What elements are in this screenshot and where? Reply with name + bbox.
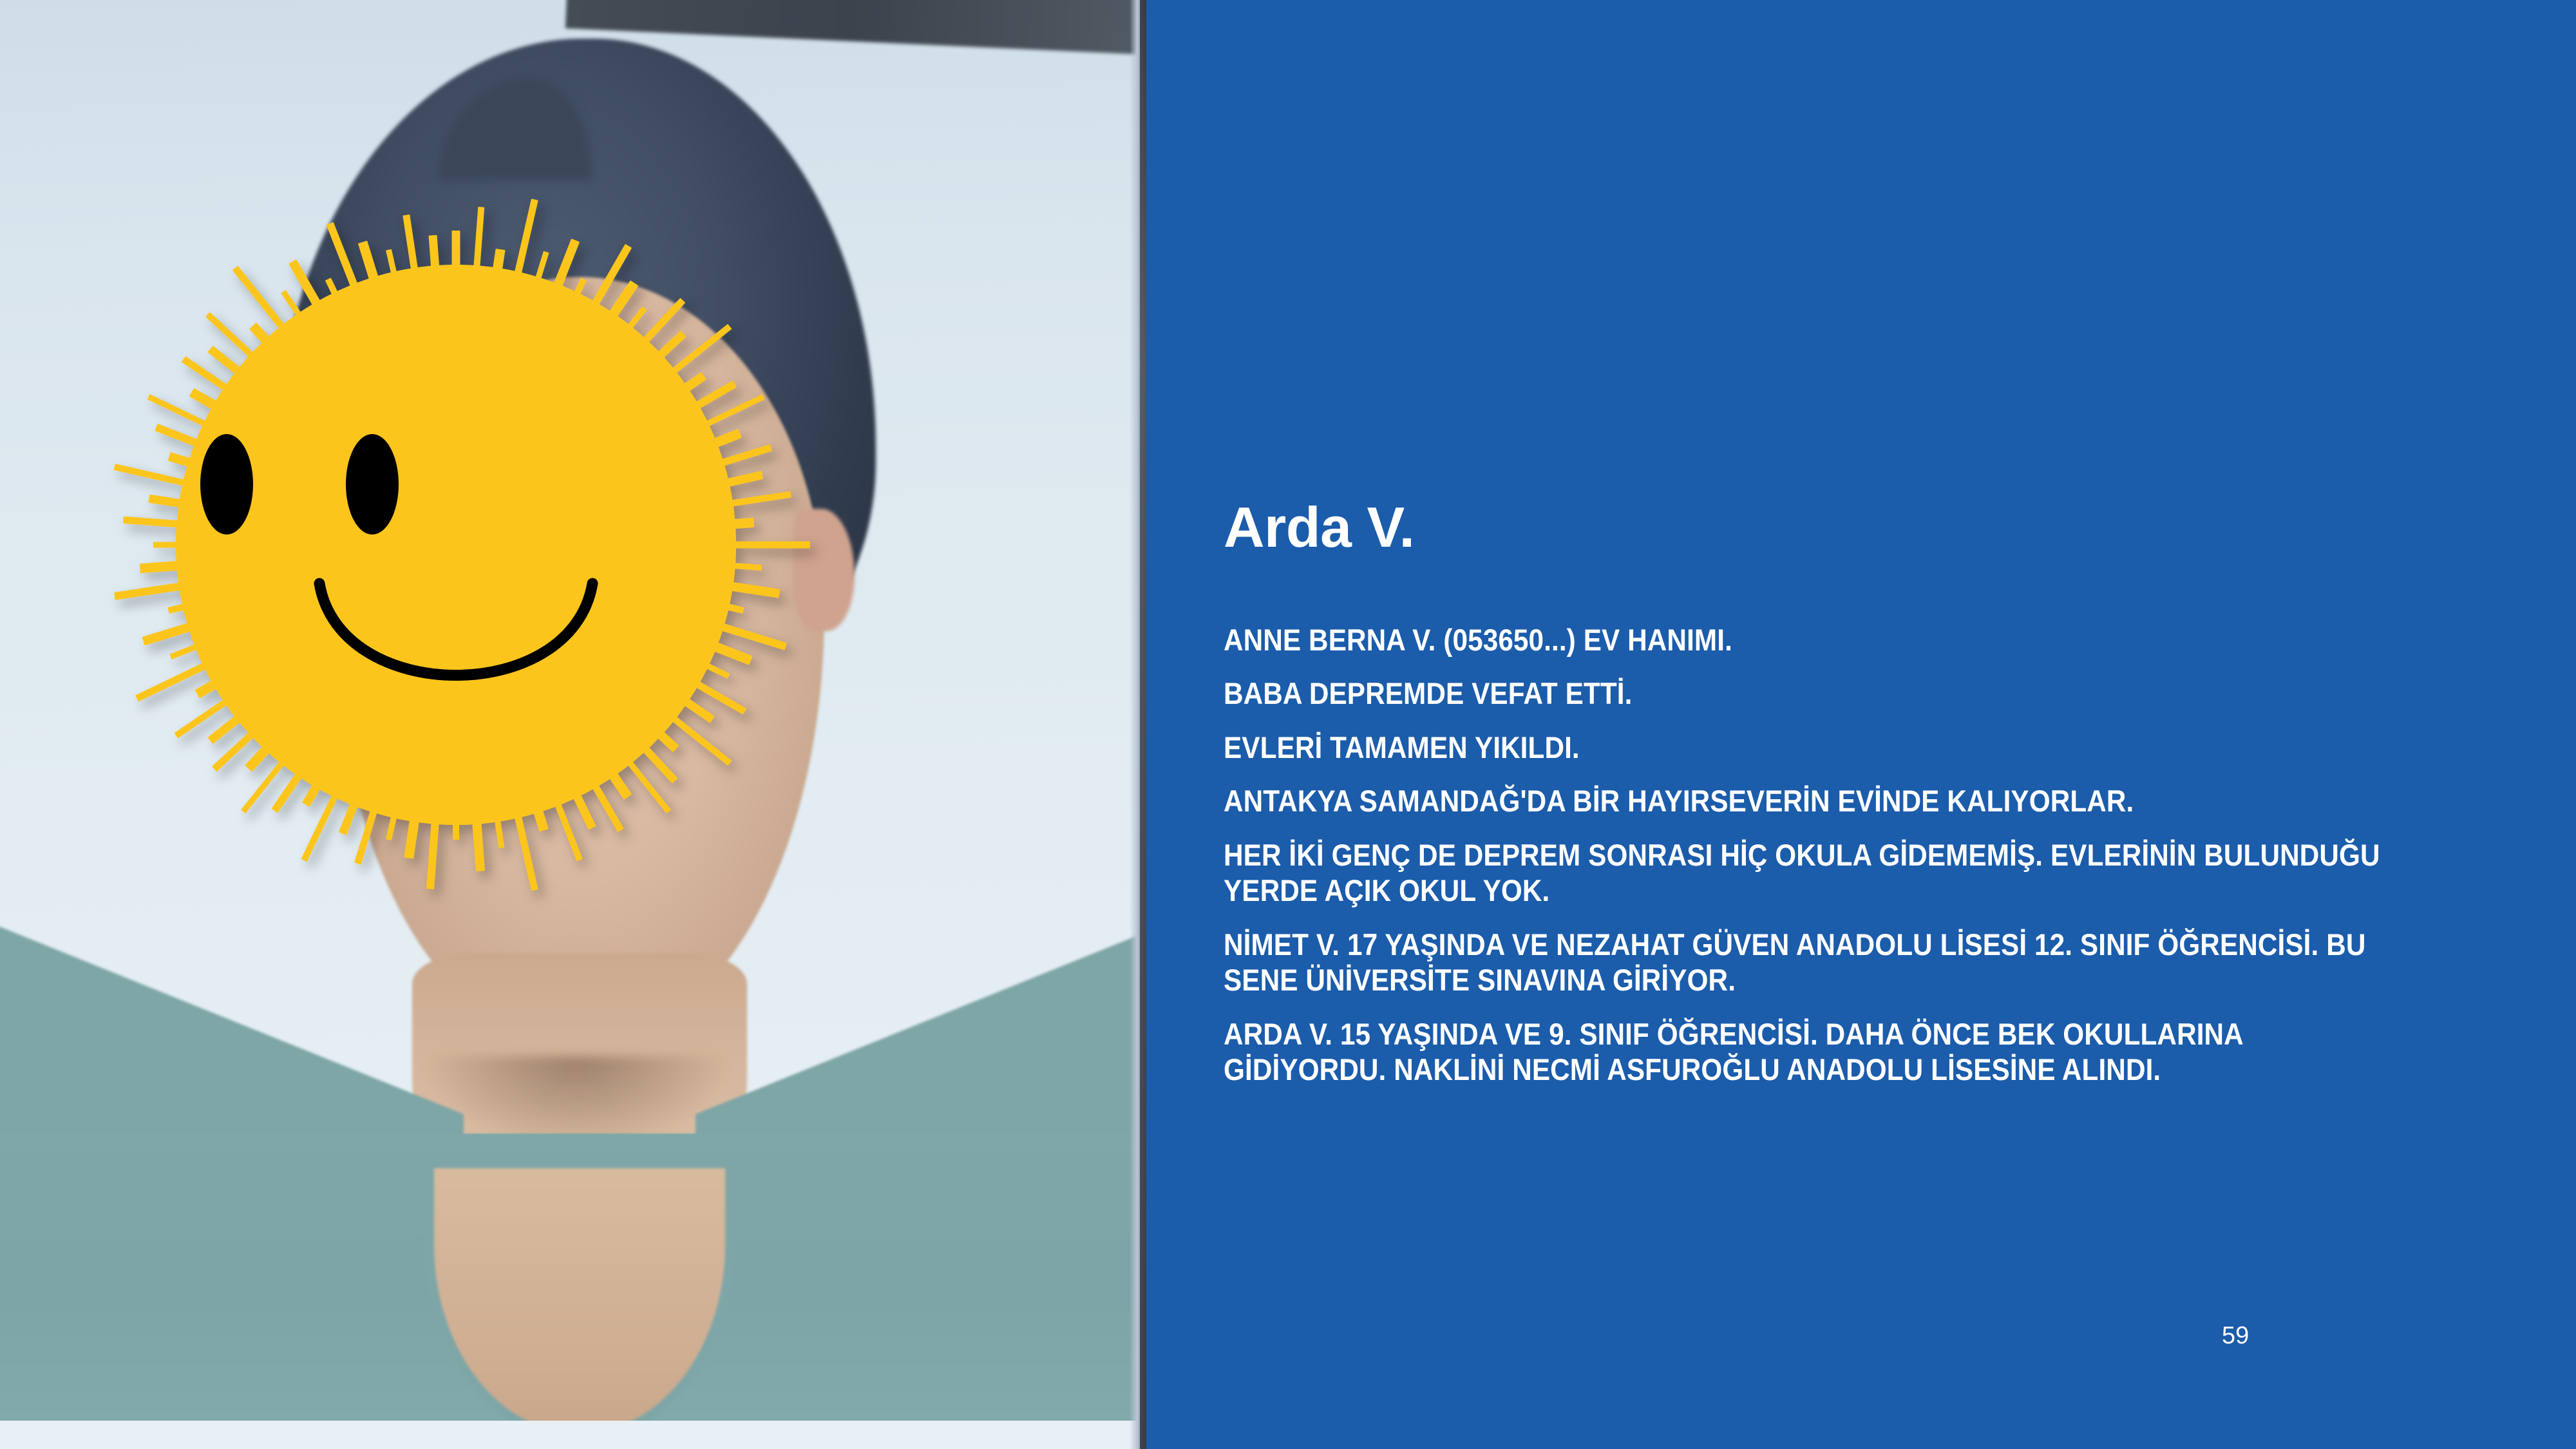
page-number: 59 (2222, 1323, 2249, 1348)
photo-bottom-edge (0, 1421, 1146, 1449)
description-paragraph: HER İKİ GENÇ DE DEPREM SONRASI HİÇ OKULA… (1224, 837, 2394, 909)
portrait-photo (0, 0, 1146, 1449)
case-description: ANNE BERNA V. (053650...) EV HANIMI. BAB… (1224, 622, 2394, 1088)
slide-canvas: Arda V. ANNE BERNA V. (053650...) EV HAN… (0, 0, 2576, 1449)
description-paragraph: ARDA V. 15 YAŞINDA VE 9. SINIF ÖĞRENCİSİ… (1224, 1016, 2394, 1088)
description-paragraph: ANNE BERNA V. (053650...) EV HANIMI. (1224, 622, 2394, 658)
info-panel: Arda V. ANNE BERNA V. (053650...) EV HAN… (1146, 0, 2576, 1449)
description-paragraph: BABA DEPREMDE VEFAT ETTİ. (1224, 676, 2394, 711)
description-paragraph: ANTAKYA SAMANDAĞ'DA BİR HAYIRSEVERİN EVİ… (1224, 783, 2394, 819)
subject-face (335, 277, 824, 1037)
description-paragraph: NİMET V. 17 YAŞINDA VE NEZAHAT GÜVEN ANA… (1224, 927, 2394, 998)
description-paragraph: EVLERİ TAMAMEN YIKILDI. (1224, 730, 2394, 765)
page-title: Arda V. (1224, 499, 1415, 556)
scan-right-dark-edge (1140, 0, 1146, 1449)
